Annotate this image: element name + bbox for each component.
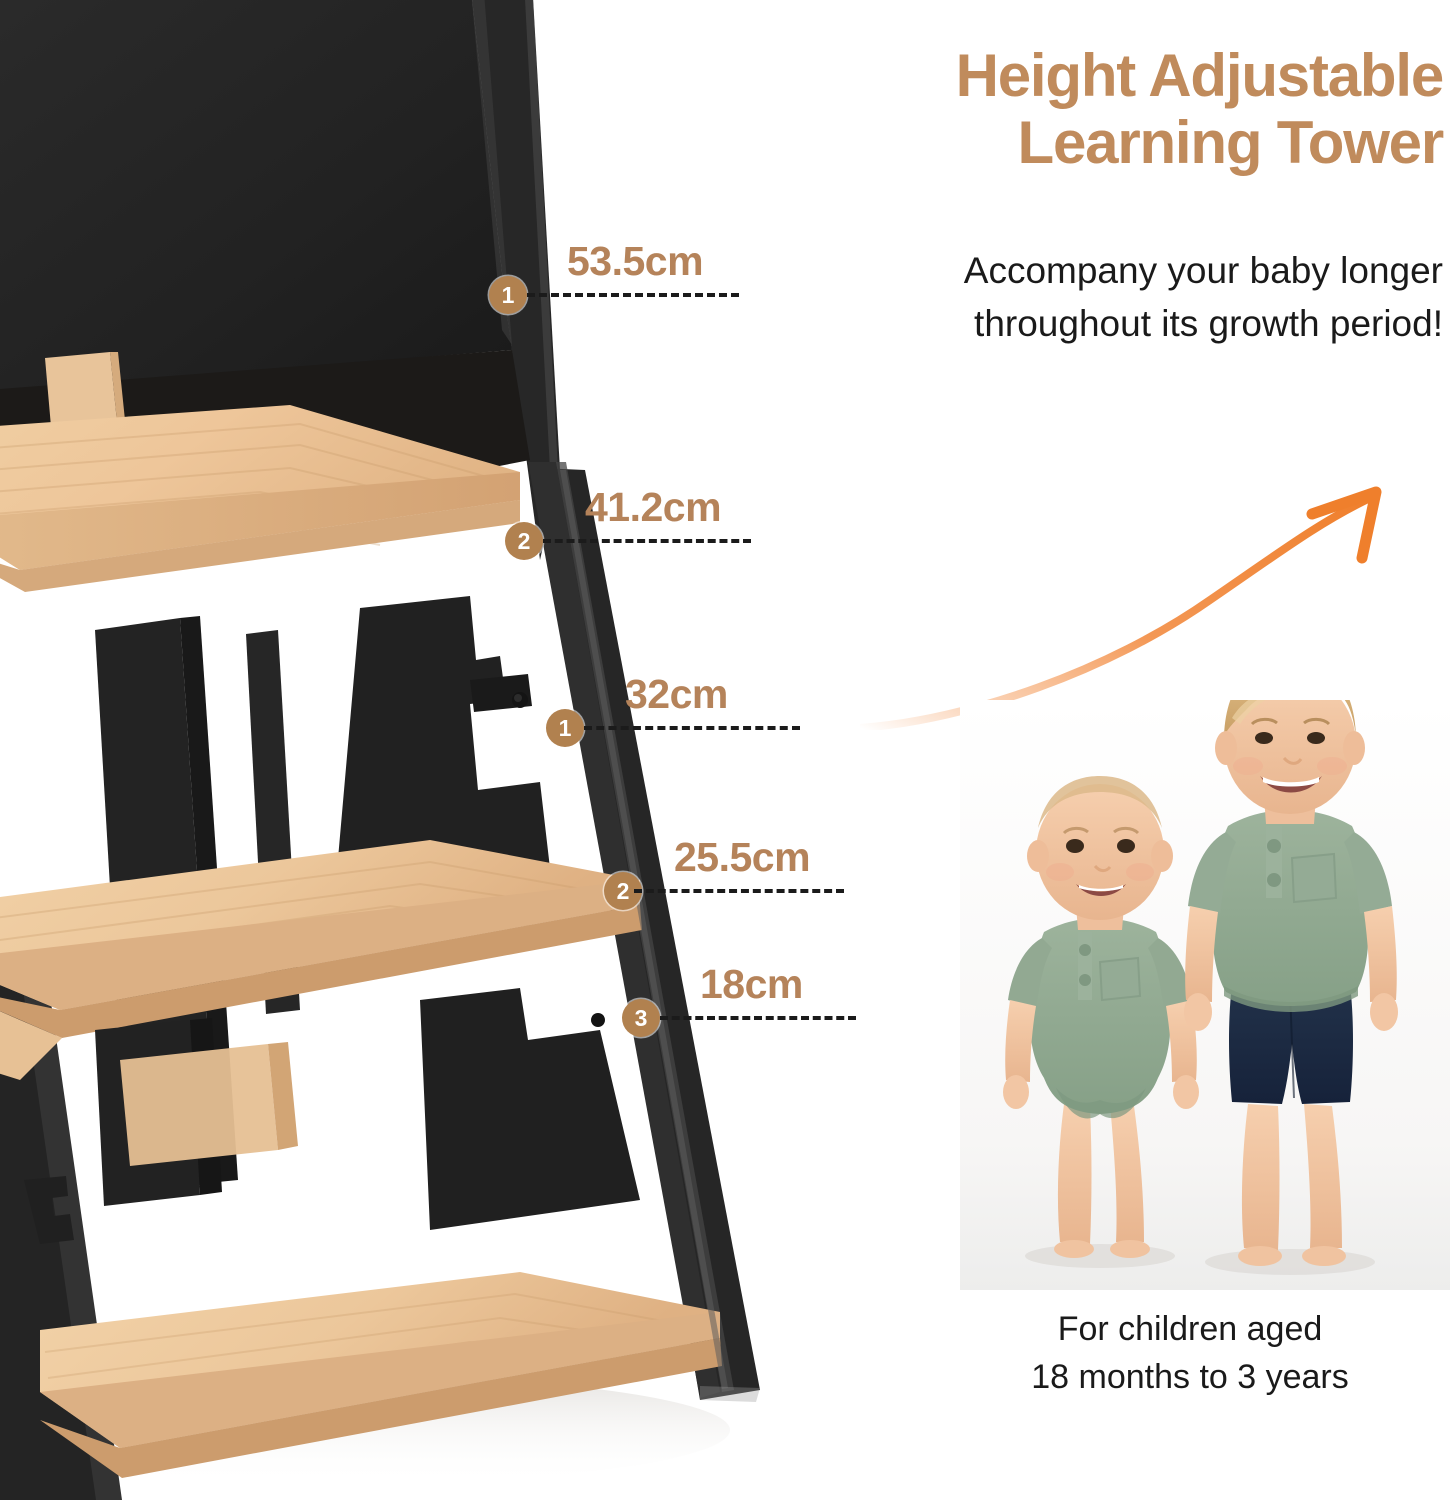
infographic-canvas: 1 53.5cm 2 41.2cm 1 32cm 2 25.5cm 3 18cm… [0, 0, 1453, 1500]
step-number-badge-icon: 1 [546, 709, 584, 747]
subtitle-line-2: throughout its growth period! [743, 298, 1443, 351]
callout-dash-line [543, 539, 751, 543]
step-number-badge-icon: 2 [505, 522, 543, 560]
age-note-line-1: For children aged [940, 1305, 1440, 1353]
measurement-label: 18cm [700, 961, 803, 1008]
callout-dash-line [584, 726, 800, 730]
step-number-badge-icon: 3 [622, 999, 660, 1037]
product-photo-learning-tower [0, 0, 800, 1500]
subtitle: Accompany your baby longer throughout it… [743, 245, 1443, 350]
subtitle-line-1: Accompany your baby longer [743, 245, 1443, 298]
age-range-note: For children aged 18 months to 3 years [940, 1305, 1440, 1402]
callout-dash-line [527, 293, 739, 297]
headline-line-2: Learning Tower [743, 109, 1443, 176]
curved-up-arrow-icon [860, 470, 1450, 730]
headline-line-1: Height Adjustable [743, 42, 1443, 109]
age-note-line-2: 18 months to 3 years [940, 1353, 1440, 1401]
step-number-badge-icon: 1 [489, 276, 527, 314]
children-photo [960, 700, 1450, 1290]
measurement-label: 41.2cm [585, 484, 721, 531]
measurement-label: 53.5cm [567, 238, 703, 285]
callout-dash-line [634, 889, 844, 893]
page-title: Height Adjustable Learning Tower [743, 42, 1443, 176]
callout-dash-line [660, 1016, 856, 1020]
growth-arrow-container [860, 470, 1450, 730]
measurement-label: 32cm [625, 671, 728, 718]
measurement-label: 25.5cm [674, 834, 810, 881]
